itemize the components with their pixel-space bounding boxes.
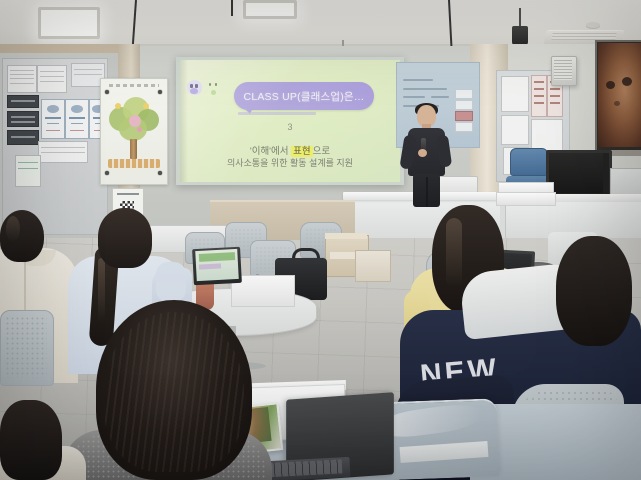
pin-icon <box>105 171 109 175</box>
slide-bubble-text: CLASS UP(클래스업)은… <box>244 89 365 104</box>
classroom-photo: CLASS UP(클래스업)은… 3 '이해'에서 표현으로 의사소통을 위한 … <box>0 0 641 480</box>
slide-line-2: 의사소통을 위한 활동 설계를 지원 <box>180 156 400 169</box>
blue-office-chair <box>510 148 548 176</box>
speaker-grill <box>554 60 572 80</box>
cardboard-box <box>355 250 391 282</box>
slide-speech-bubble: CLASS UP(클래스업)은… <box>234 82 374 110</box>
tree-poster <box>100 78 168 185</box>
wall-trim <box>0 44 120 53</box>
notice-sheet <box>37 65 67 93</box>
led-panel-light <box>243 0 297 19</box>
ghost-face-icon <box>187 80 202 95</box>
smile-face-icon <box>208 83 220 95</box>
presenter-hand <box>418 149 427 157</box>
notice-dark-label <box>7 130 39 145</box>
air-vent-grill <box>551 33 616 40</box>
pin-icon <box>158 171 162 175</box>
attendee-hair <box>556 236 632 346</box>
notice-sheet <box>501 115 529 145</box>
qr-notice-title <box>117 193 139 195</box>
slide-subtitle-bar <box>238 112 316 115</box>
poster-footer-band <box>108 159 160 168</box>
pin-icon <box>105 90 109 94</box>
attendee-hair <box>0 400 62 480</box>
notice-board-left <box>2 58 108 235</box>
certificate-frame <box>41 99 65 139</box>
chair-perforation <box>5 316 47 378</box>
monitor-screen <box>549 153 603 193</box>
hair-highlight <box>6 216 20 242</box>
presenter-leg-seam <box>426 177 428 207</box>
hanging-cable <box>231 0 233 16</box>
slide-line-1: '이해'에서 표현으로 <box>180 143 400 157</box>
notice-dark-label <box>7 111 39 127</box>
hair-strands <box>104 312 244 472</box>
notice-sheet-red <box>531 75 547 117</box>
slide-page-number: 3 <box>180 122 400 132</box>
notice-sheet <box>7 65 37 93</box>
tree-trunk <box>130 139 137 159</box>
whiteboard-notes <box>455 89 473 137</box>
presenter <box>400 105 452 205</box>
notice-sheet <box>501 76 529 112</box>
attendee-arm <box>156 262 186 302</box>
poster-title-line <box>109 84 159 87</box>
wall-display-image <box>598 43 641 147</box>
pendant-lamp-rod <box>519 8 521 28</box>
hair-highlight <box>446 218 462 288</box>
led-panel-light <box>38 7 100 39</box>
notice-dark-label <box>7 95 39 108</box>
smoke-detector-icon <box>586 22 600 28</box>
attendee-hair <box>98 208 152 268</box>
hair-highlight <box>98 258 105 322</box>
pin-icon <box>158 90 162 94</box>
notice-sheet-green <box>15 155 41 187</box>
notice-sheet <box>38 141 88 163</box>
cardboard-box-flap <box>325 233 367 239</box>
certificate-frame <box>65 99 89 139</box>
paper-stack <box>496 192 556 206</box>
pendant-lamp-shade <box>512 26 528 46</box>
projected-slide: CLASS UP(클래스업)은… 3 '이해'에서 표현으로 의사소통을 위한 … <box>180 60 400 182</box>
